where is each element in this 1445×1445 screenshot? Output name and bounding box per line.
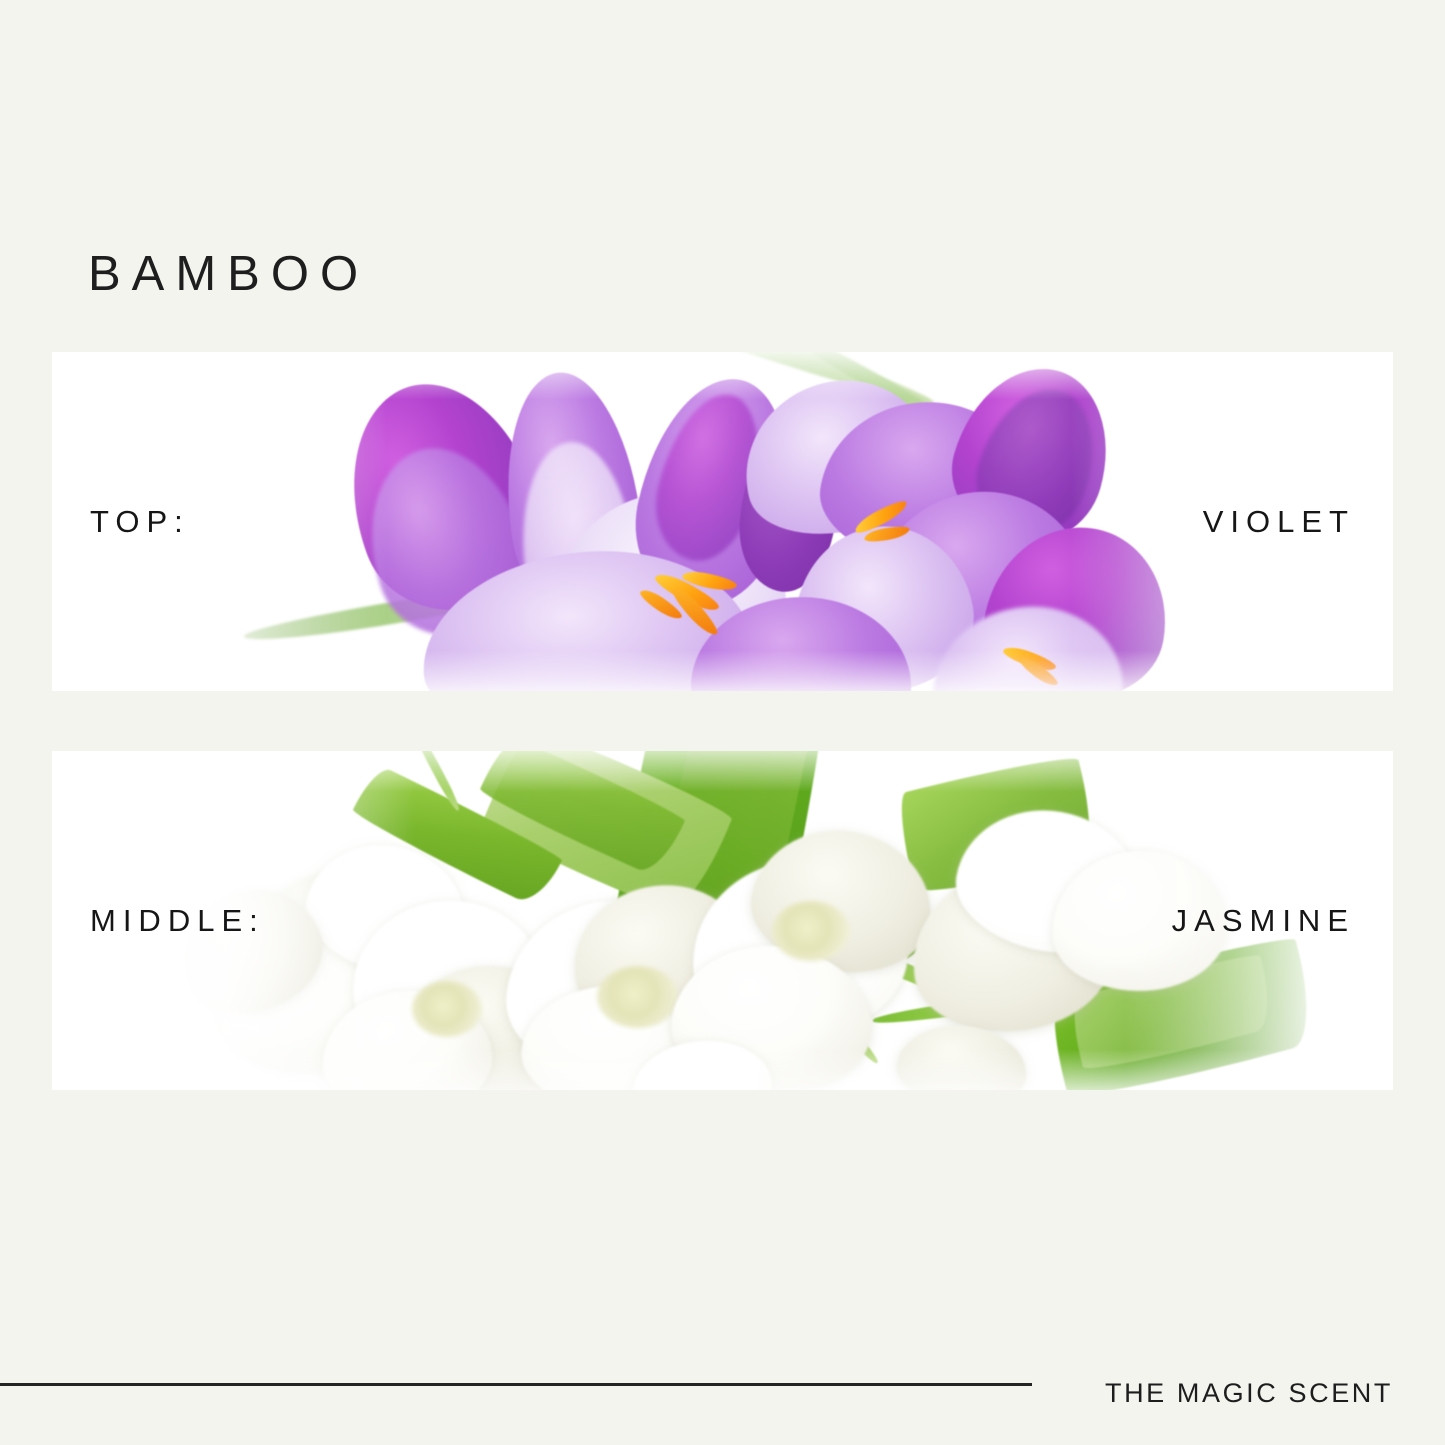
footer-divider: [0, 1383, 1032, 1386]
page-title: BAMBOO: [88, 250, 369, 299]
note-value-middle: JASMINE: [1172, 903, 1355, 939]
note-label-top: TOP:: [90, 504, 190, 540]
product-scent-card: BAMBOO: [0, 0, 1445, 1445]
note-band-middle: MIDDLE: JASMINE: [52, 751, 1393, 1090]
jasmine-center-1: [412, 981, 482, 1037]
jasmine-center-3: [772, 901, 850, 961]
note-label-middle: MIDDLE:: [90, 903, 265, 939]
note-value-top: VIOLET: [1203, 504, 1355, 540]
jasmine-center-2: [597, 966, 679, 1028]
note-band-top: TOP: VIOLET: [52, 352, 1393, 691]
brand-name: THE MAGIC SCENT: [1105, 1378, 1393, 1409]
violet-flower-image: [52, 352, 1393, 691]
